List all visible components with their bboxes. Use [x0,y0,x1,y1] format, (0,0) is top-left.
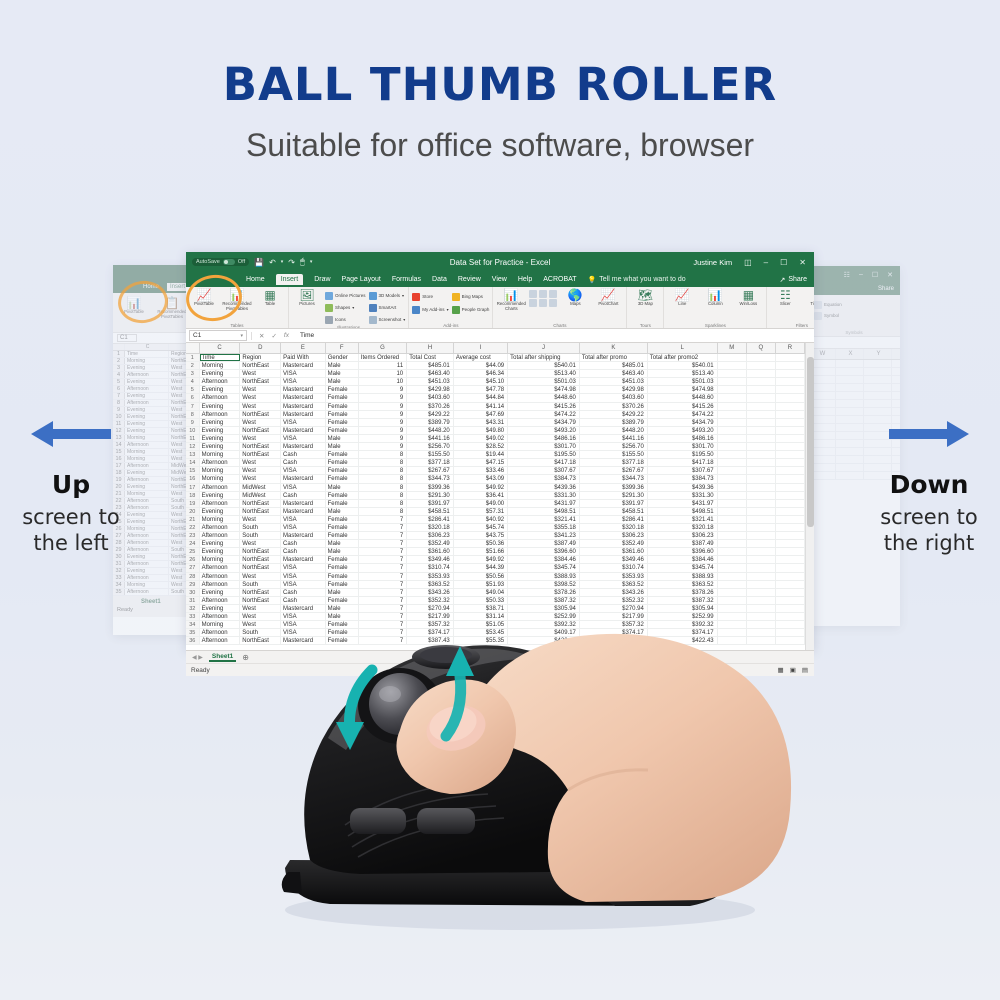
table-cell-empty[interactable] [776,540,805,547]
column-header-k[interactable]: K [580,343,648,353]
table-row[interactable]: 30EveningNorthEastCashMale7$343.26$49.04… [186,589,805,597]
table-cell[interactable]: $399.36 [580,484,648,491]
table-cell[interactable]: 8 [359,500,408,507]
table-cell[interactable]: $301.70 [508,443,580,450]
table-cell-empty[interactable] [776,475,805,482]
table-cell[interactable]: Afternoon [200,532,241,539]
table-cell[interactable]: Female [326,451,359,458]
table-cell-empty[interactable] [718,427,747,434]
table-cell[interactable]: $415.26 [508,403,580,410]
table-cell[interactable]: $352.32 [580,597,648,604]
column-header-j[interactable]: J [508,343,580,353]
table-cell[interactable]: $363.52 [580,581,648,588]
table-cell[interactable]: Female [326,564,359,571]
table-cell-empty[interactable] [747,532,776,539]
table-cell[interactable]: 9 [359,443,408,450]
table-cell[interactable]: 7 [359,548,408,555]
table-cell[interactable]: VISA [281,524,326,531]
table-cell[interactable]: $50.56 [454,573,508,580]
table-cell[interactable]: West [240,386,281,393]
column-header-e[interactable]: E [281,343,326,353]
people-graph-button[interactable]: People Graph [452,304,490,315]
table-cell[interactable]: $384.46 [508,556,580,563]
table-cell[interactable]: Evening [200,427,241,434]
table-cell[interactable]: Female [326,532,359,539]
table-cell[interactable]: Evening [200,548,241,555]
table-cell-empty[interactable] [747,411,776,418]
table-cell-empty[interactable] [747,370,776,377]
cell-j1[interactable]: Total after shipping [508,354,580,361]
table-row[interactable]: 7EveningWestMastercardFemale9$370.26$41.… [186,403,805,411]
table-cell-empty[interactable] [718,508,747,515]
table-cell-empty[interactable] [747,508,776,515]
table-cell[interactable]: $501.03 [508,378,580,385]
worksheet-grid[interactable]: C D E F G H I J K L M Q R 1 Time Region … [186,343,814,650]
table-cell[interactable]: Cash [281,459,326,466]
table-cell[interactable]: Mastercard [281,394,326,401]
table-cell-empty[interactable] [747,581,776,588]
table-cell[interactable]: Female [326,427,359,434]
table-cell[interactable]: $46.34 [454,370,508,377]
table-cell[interactable]: NorthEast [240,508,281,515]
table-cell[interactable]: VISA [281,516,326,523]
table-cell[interactable]: Afternoon [200,378,241,385]
table-cell[interactable]: $396.60 [508,548,580,555]
table-cell[interactable]: $306.23 [648,532,718,539]
table-cell[interactable]: $403.60 [580,394,648,401]
table-cell[interactable]: NorthEast [240,378,281,385]
slicer-button[interactable]: ☷ Slicer [770,289,800,307]
table-cell[interactable]: $498.51 [648,508,718,515]
row-header[interactable]: 16 [186,475,200,482]
table-cell[interactable]: Mastercard [281,362,326,369]
table-cell[interactable]: Morning [200,621,241,628]
table-cell-empty[interactable] [718,435,747,442]
tab-data[interactable]: Data [432,276,447,283]
table-row[interactable]: 2MorningNorthEastMastercardMale11$485.01… [186,362,805,370]
row-header[interactable]: 4 [186,378,200,385]
table-cell[interactable]: $321.41 [508,516,580,523]
table-cell[interactable]: $463.40 [407,370,454,377]
table-cell[interactable]: $344.73 [407,475,454,482]
table-cell[interactable]: $50.36 [454,540,508,547]
row-header[interactable]: 21 [186,516,200,523]
table-cell[interactable]: $389.79 [580,419,648,426]
table-cell[interactable]: $474.22 [648,411,718,418]
table-cell[interactable]: $378.26 [508,589,580,596]
row-header[interactable]: 30 [186,589,200,596]
smartart-button[interactable]: SmartArt [369,302,406,313]
table-cell[interactable]: Evening [200,443,241,450]
table-cell-empty[interactable] [747,419,776,426]
table-cell[interactable]: Evening [200,605,241,612]
table-cell[interactable]: $43.09 [454,475,508,482]
table-cell[interactable]: West [240,573,281,580]
table-cell[interactable]: $286.41 [407,516,454,523]
table-cell-empty[interactable] [776,451,805,458]
table-cell[interactable]: Male [326,540,359,547]
table-cell[interactable]: Mastercard [281,386,326,393]
screenshot-button[interactable]: Screenshot▾ [369,314,406,325]
table-cell-empty[interactable] [776,548,805,555]
table-cell-empty[interactable] [776,411,805,418]
table-cell-empty[interactable] [776,589,805,596]
row-header[interactable]: 22 [186,524,200,531]
table-cell[interactable]: $49.04 [454,589,508,596]
table-cell[interactable]: $429.22 [407,411,454,418]
table-cell[interactable]: Cash [281,597,326,604]
column-header-i[interactable]: I [454,343,508,353]
table-row[interactable]: 19AfternoonNorthEastMastercardFemale8$39… [186,500,805,508]
table-cell[interactable]: VISA [281,573,326,580]
cancel-icon[interactable]: ✕ [259,332,264,340]
table-cell-empty[interactable] [776,459,805,466]
table-cell[interactable]: $370.26 [407,403,454,410]
table-button[interactable]: ▦ Table [255,289,285,312]
table-cell[interactable]: $343.26 [580,589,648,596]
table-cell[interactable]: VISA [281,484,326,491]
table-cell-empty[interactable] [718,370,747,377]
table-cell[interactable]: West [240,370,281,377]
table-cell-empty[interactable] [747,548,776,555]
table-row[interactable]: 3EveningWestVISAMale10$463.40$46.34$513.… [186,370,805,378]
table-cell[interactable]: $47.78 [454,386,508,393]
table-cell-empty[interactable] [718,394,747,401]
table-cell[interactable]: Morning [200,475,241,482]
table-cell[interactable]: $396.60 [648,548,718,555]
table-cell-empty[interactable] [776,524,805,531]
table-cell[interactable]: $451.03 [580,378,648,385]
column-header-g[interactable]: G [359,343,408,353]
table-cell[interactable]: 10 [359,378,408,385]
table-cell-empty[interactable] [718,589,747,596]
table-row[interactable]: 18EveningMidWestCashFemale8$291.30$36.41… [186,492,805,500]
table-cell[interactable]: $51.66 [454,548,508,555]
table-cell[interactable]: $384.73 [508,475,580,482]
table-cell[interactable]: Evening [200,589,241,596]
table-cell[interactable]: Evening [200,403,241,410]
table-cell[interactable]: $513.40 [508,370,580,377]
table-cell[interactable]: Cash [281,548,326,555]
table-cell[interactable]: $388.93 [648,573,718,580]
table-cell-empty[interactable] [776,556,805,563]
table-cell[interactable]: $349.46 [407,556,454,563]
table-cell[interactable]: NorthEast [240,443,281,450]
table-cell[interactable]: 7 [359,532,408,539]
table-cell[interactable]: Female [326,500,359,507]
table-cell[interactable]: $485.01 [580,362,648,369]
table-cell[interactable]: West [240,516,281,523]
table-cell-empty[interactable] [718,548,747,555]
table-cell[interactable]: Mastercard [281,403,326,410]
table-cell[interactable]: 9 [359,419,408,426]
column-header-r[interactable]: R [776,343,805,353]
table-cell[interactable]: $387.32 [648,597,718,604]
table-cell-empty[interactable] [776,532,805,539]
table-cell-empty[interactable] [747,500,776,507]
tab-draw[interactable]: Draw [314,276,330,283]
vertical-scrollbar[interactable] [805,343,814,650]
table-cell[interactable]: Evening [200,435,241,442]
table-cell[interactable]: $513.40 [648,370,718,377]
row-header[interactable]: 29 [186,581,200,588]
table-row[interactable]: 27AfternoonNorthEastVISAFemale7$310.74$4… [186,564,805,572]
row-header[interactable]: 32 [186,605,200,612]
row-header[interactable]: 17 [186,484,200,491]
column-header-f[interactable]: F [326,343,359,353]
row-header[interactable]: 13 [186,451,200,458]
table-cell[interactable]: NorthEast [240,597,281,604]
table-cell[interactable]: Female [326,419,359,426]
table-cell[interactable]: Mastercard [281,508,326,515]
table-cell[interactable]: Male [326,589,359,596]
table-row[interactable]: 24EveningWestCashMale7$352.49$50.36$387.… [186,540,805,548]
table-cell[interactable]: 8 [359,459,408,466]
table-cell[interactable]: 7 [359,524,408,531]
table-cell[interactable]: $155.50 [407,451,454,458]
table-cell[interactable]: Mastercard [281,411,326,418]
cell-l1[interactable]: Total after promo2 [648,354,718,361]
table-cell[interactable]: Mastercard [281,532,326,539]
table-cell[interactable]: $439.36 [508,484,580,491]
table-row[interactable]: 21MorningWestVISAFemale7$286.41$40.92$32… [186,516,805,524]
table-cell[interactable]: Afternoon [200,500,241,507]
table-cell[interactable]: NorthEast [240,548,281,555]
select-all-corner[interactable] [186,343,200,353]
table-cell-empty[interactable] [747,443,776,450]
table-cell[interactable]: Evening [200,419,241,426]
table-cell-empty[interactable] [747,451,776,458]
table-cell[interactable]: Evening [200,370,241,377]
cell-h1[interactable]: Total Cost [407,354,454,361]
table-cell[interactable]: Mastercard [281,556,326,563]
table-cell[interactable]: $439.36 [648,484,718,491]
table-cell[interactable]: $441.16 [580,435,648,442]
table-cell-empty[interactable] [718,532,747,539]
table-cell[interactable]: 8 [359,492,408,499]
table-row[interactable]: 10EveningNorthEastMastercardFemale9$448.… [186,427,805,435]
table-cell[interactable]: West [240,467,281,474]
table-cell[interactable]: West [240,419,281,426]
table-cell-empty[interactable] [718,419,747,426]
table-cell[interactable]: $486.16 [648,435,718,442]
column-chart-icon[interactable] [529,290,537,298]
cell-f1[interactable]: Gender [326,354,359,361]
sparkline-column-button[interactable]: 📊 Column [700,289,730,307]
table-cell-empty[interactable] [776,581,805,588]
table-cell-empty[interactable] [776,419,805,426]
table-cell[interactable]: 8 [359,451,408,458]
table-cell-empty[interactable] [776,378,805,385]
table-row[interactable]: 12EveningNorthEastMastercardMale9$256.70… [186,443,805,451]
table-cell[interactable]: $429.98 [407,386,454,393]
table-cell[interactable]: 8 [359,484,408,491]
tab-formulas[interactable]: Formulas [392,276,421,283]
table-cell[interactable]: 9 [359,411,408,418]
table-cell[interactable]: South [240,524,281,531]
row-header[interactable]: 28 [186,573,200,580]
scatter-chart-icon[interactable] [549,299,557,307]
table-row[interactable]: 13MorningNorthEastCashFemale8$155.50$19.… [186,451,805,459]
table-cell-empty[interactable] [747,475,776,482]
icons-button[interactable]: Icons [325,314,366,325]
table-row[interactable]: 22AfternoonSouthVISAFemale7$320.18$45.74… [186,524,805,532]
formula-bar-buttons[interactable]: ✕ ✓ fx [251,332,296,340]
table-cell[interactable]: South [240,532,281,539]
table-row[interactable]: 20EveningNorthEastMastercardMale8$458.51… [186,508,805,516]
table-cell[interactable]: $448.20 [580,427,648,434]
table-cell[interactable]: $458.51 [580,508,648,515]
table-cell[interactable]: $43.75 [454,532,508,539]
table-cell[interactable]: $417.18 [508,459,580,466]
table-cell[interactable]: NorthEast [240,589,281,596]
table-cell[interactable]: Evening [200,508,241,515]
table-row[interactable]: 6AfternoonWestMastercardFemale9$403.60$4… [186,394,805,402]
table-cell[interactable]: Mastercard [281,443,326,450]
table-row[interactable]: 26MorningNorthEastMastercardFemale7$349.… [186,556,805,564]
table-cell[interactable]: VISA [281,378,326,385]
table-cell-empty[interactable] [776,508,805,515]
table-cell-empty[interactable] [747,362,776,369]
table-cell[interactable]: West [240,394,281,401]
table-cell[interactable]: MidWest [240,492,281,499]
table-cell[interactable]: $320.18 [580,524,648,531]
table-cell[interactable]: 9 [359,427,408,434]
table-cell-empty[interactable] [747,573,776,580]
table-cell[interactable]: $389.79 [407,419,454,426]
table-cell[interactable]: $50.33 [454,597,508,604]
tab-view[interactable]: View [492,276,507,283]
table-cell[interactable]: NorthEast [240,451,281,458]
table-cell[interactable]: 7 [359,597,408,604]
table-cell[interactable]: Female [326,386,359,393]
table-cell-empty[interactable] [718,484,747,491]
table-cell[interactable]: VISA [281,564,326,571]
table-row[interactable]: 15MorningWestVISAFemale8$267.67$33.46$30… [186,467,805,475]
table-cell-empty[interactable] [776,573,805,580]
row-header[interactable]: 12 [186,443,200,450]
table-cell[interactable]: South [240,581,281,588]
table-cell[interactable]: $540.01 [508,362,580,369]
table-cell[interactable]: 7 [359,573,408,580]
table-cell[interactable]: $458.51 [407,508,454,515]
table-cell[interactable]: VISA [281,467,326,474]
row-header[interactable]: 33 [186,613,200,620]
table-cell[interactable]: Female [326,475,359,482]
table-cell[interactable]: West [240,435,281,442]
scrollbar-thumb[interactable] [807,357,814,527]
table-cell[interactable]: $267.67 [407,467,454,474]
table-cell[interactable]: $301.70 [648,443,718,450]
table-cell[interactable]: $448.60 [648,394,718,401]
table-body[interactable]: 2MorningNorthEastMastercardMale11$485.01… [186,362,805,645]
table-cell-empty[interactable] [718,451,747,458]
table-cell[interactable]: $448.60 [508,394,580,401]
table-cell[interactable]: Male [326,378,359,385]
table-cell[interactable]: Male [326,508,359,515]
table-cell[interactable]: Afternoon [200,484,241,491]
table-cell[interactable]: Afternoon [200,564,241,571]
table-cell[interactable]: Mastercard [281,500,326,507]
table-cell[interactable]: $431.97 [508,500,580,507]
table-cell-empty[interactable] [747,484,776,491]
table-cell-empty[interactable] [747,589,776,596]
table-cell-empty[interactable] [747,394,776,401]
side-button-forward[interactable] [417,808,475,834]
table-cell[interactable]: Cash [281,540,326,547]
table-cell[interactable]: Afternoon [200,637,241,644]
table-cell[interactable]: $474.22 [508,411,580,418]
table-cell[interactable]: $399.36 [407,484,454,491]
tab-acrobat[interactable]: ACROBAT [543,276,576,283]
table-cell[interactable]: Afternoon [200,459,241,466]
table-cell[interactable]: MidWest [240,484,281,491]
table-cell[interactable]: Afternoon [200,581,241,588]
table-row[interactable]: 28AfternoonWestVISAFemale7$353.93$50.56$… [186,573,805,581]
table-cell-empty[interactable] [718,378,747,385]
table-cell-empty[interactable] [776,516,805,523]
row-header[interactable]: 23 [186,532,200,539]
table-cell[interactable]: $195.50 [648,451,718,458]
table-row[interactable]: 31AfternoonNorthEastCashFemale7$352.32$5… [186,597,805,605]
table-cell[interactable]: VISA [281,370,326,377]
table-cell[interactable]: $353.93 [407,573,454,580]
table-cell[interactable]: VISA [281,419,326,426]
column-header-l[interactable]: L [648,343,718,353]
table-row[interactable]: 14AfternoonWestCashFemale8$377.18$47.15$… [186,459,805,467]
table-cell[interactable]: Male [326,435,359,442]
table-cell-empty[interactable] [718,573,747,580]
table-cell[interactable]: 8 [359,475,408,482]
table-cell[interactable]: $498.51 [508,508,580,515]
table-cell-empty[interactable] [747,386,776,393]
row-header[interactable]: 6 [186,394,200,401]
column-header-h[interactable]: H [407,343,454,353]
table-row[interactable]: 16MorningWestMastercardFemale8$344.73$43… [186,475,805,483]
row-header[interactable]: 5 [186,386,200,393]
share-button[interactable]: ↗ Share [779,276,807,284]
table-cell[interactable]: $45.10 [454,378,508,385]
table-cell[interactable]: Female [326,597,359,604]
table-cell[interactable]: $291.30 [407,492,454,499]
row-header[interactable]: 8 [186,411,200,418]
cell-i1[interactable]: Average cost [454,354,508,361]
table-cell[interactable]: $352.49 [580,540,648,547]
table-cell[interactable]: $310.74 [407,564,454,571]
online-pictures-button[interactable]: Online Pictures [325,290,366,301]
insert-function-icon[interactable]: fx [284,332,289,340]
table-cell[interactable]: 11 [359,362,408,369]
table-cell[interactable]: $49.02 [454,435,508,442]
row-header[interactable]: 11 [186,435,200,442]
tab-help[interactable]: Help [518,276,532,283]
row-header[interactable]: 26 [186,556,200,563]
table-cell[interactable]: $345.74 [648,564,718,571]
table-cell[interactable]: $45.74 [454,524,508,531]
table-cell-empty[interactable] [776,500,805,507]
table-cell[interactable]: $493.20 [508,427,580,434]
table-cell[interactable]: $267.67 [580,467,648,474]
sparkline-line-button[interactable]: 📈 Line [667,289,697,307]
table-cell[interactable]: $353.93 [580,573,648,580]
table-cell[interactable]: $387.49 [508,540,580,547]
table-cell-empty[interactable] [776,492,805,499]
table-cell[interactable]: $256.70 [407,443,454,450]
column-header-q[interactable]: Q [747,343,776,353]
sheet-cells[interactable]: C D E F G H I J K L M Q R 1 Time Region … [186,343,805,650]
bing-maps-button[interactable]: Bing Maps [452,291,490,302]
row-header[interactable]: 35 [186,629,200,636]
